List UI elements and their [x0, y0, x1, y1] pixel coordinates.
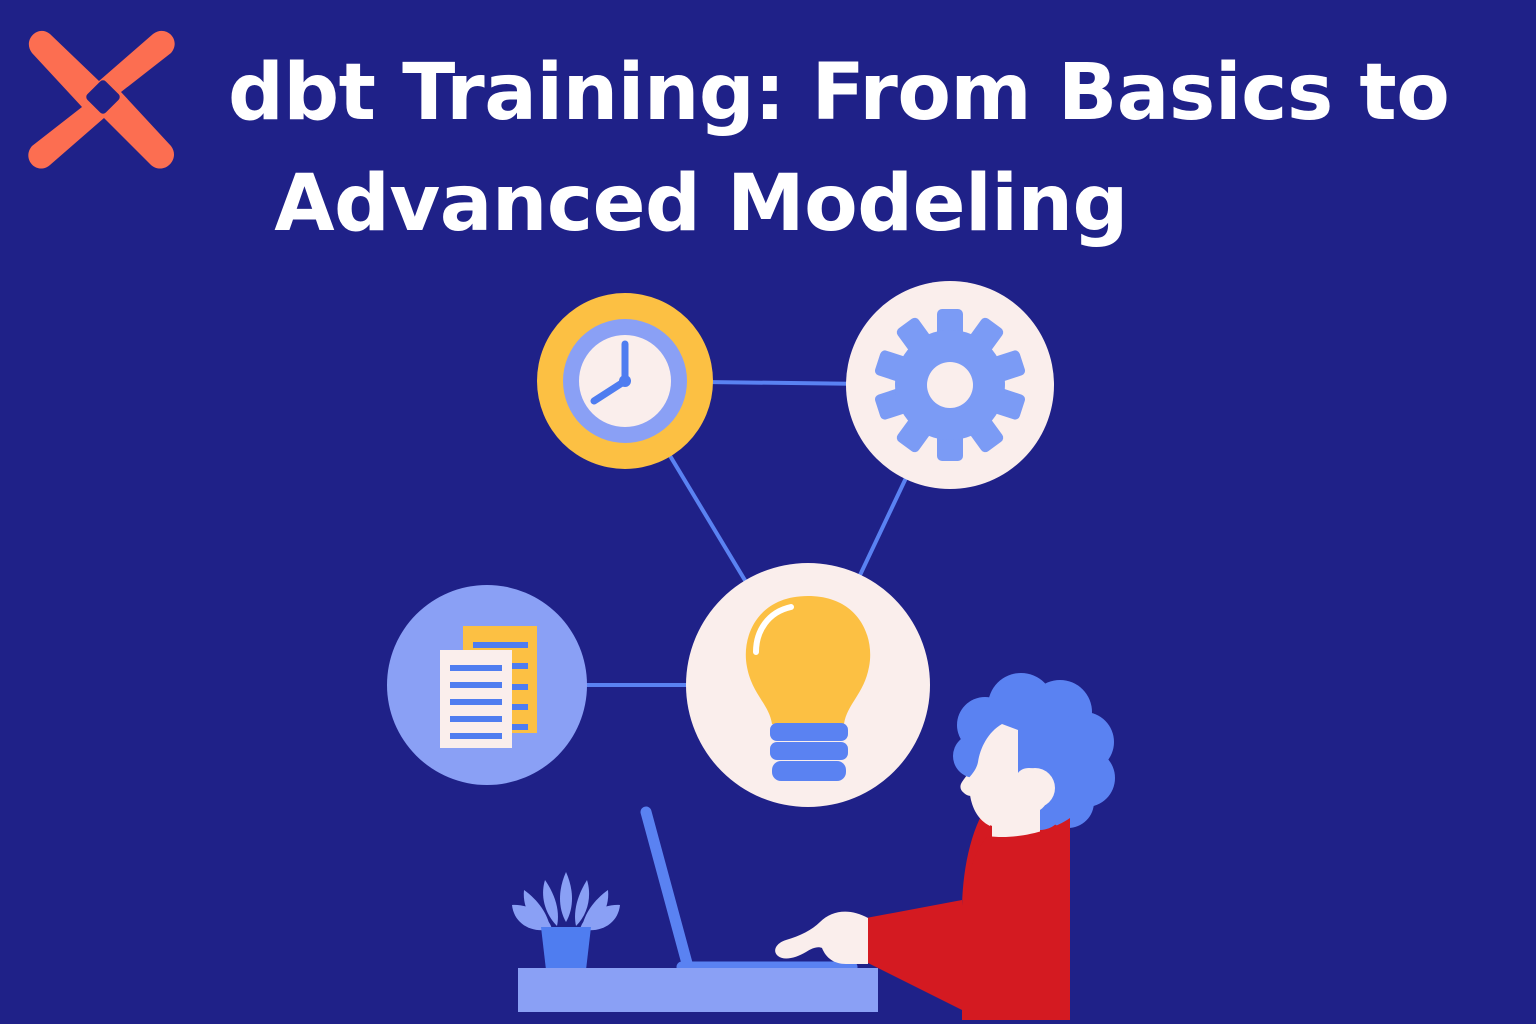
data-workflow-illustration	[0, 0, 1536, 1024]
gear-center-hole	[927, 362, 973, 408]
plant-leaves	[512, 872, 620, 930]
clock-center-dot	[619, 375, 631, 387]
lightbulb-icon	[686, 563, 930, 807]
person-hand	[775, 912, 868, 964]
potted-plant	[512, 872, 620, 980]
lightbulb-glass	[746, 596, 870, 724]
clock-icon	[537, 293, 713, 469]
desk	[518, 968, 878, 1012]
laptop-screen-edge	[646, 812, 688, 967]
gear-icon	[846, 281, 1054, 489]
slide-canvas: dbt Training: From Basics to Advanced Mo…	[0, 0, 1536, 1024]
documents-icon	[387, 585, 587, 785]
person-arm-sleeve-upper	[866, 900, 962, 950]
lightbulb-base	[770, 723, 848, 781]
person-ear	[1015, 768, 1055, 808]
person-arm-sleeve	[868, 940, 962, 1010]
